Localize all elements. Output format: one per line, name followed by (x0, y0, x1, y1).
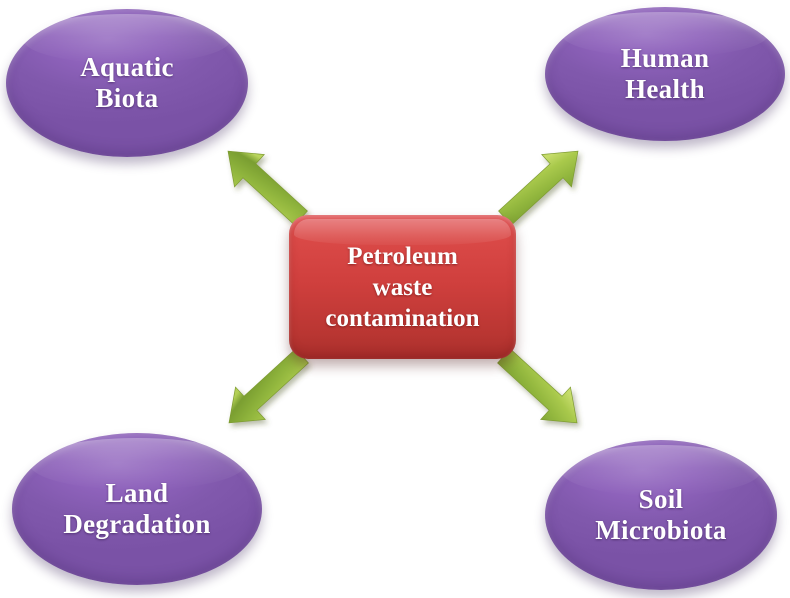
node-aquatic-biota[interactable]: Aquatic Biota (6, 9, 248, 157)
node-human-health-label: Human Health (611, 43, 720, 106)
node-human-health[interactable]: Human Health (545, 7, 785, 141)
node-petroleum-waste-contamination[interactable]: Petroleum waste contamination (289, 215, 516, 359)
node-soil-microbiota-label: Soil Microbiota (585, 484, 736, 547)
node-land-degradation-label: Land Degradation (53, 478, 220, 541)
diagram-canvas: Aquatic Biota Human Health Petroleum was… (0, 0, 790, 598)
node-aquatic-biota-label: Aquatic Biota (70, 52, 184, 115)
node-land-degradation[interactable]: Land Degradation (12, 433, 262, 585)
node-petroleum-waste-contamination-label: Petroleum waste contamination (316, 241, 488, 334)
node-soil-microbiota[interactable]: Soil Microbiota (545, 440, 777, 590)
